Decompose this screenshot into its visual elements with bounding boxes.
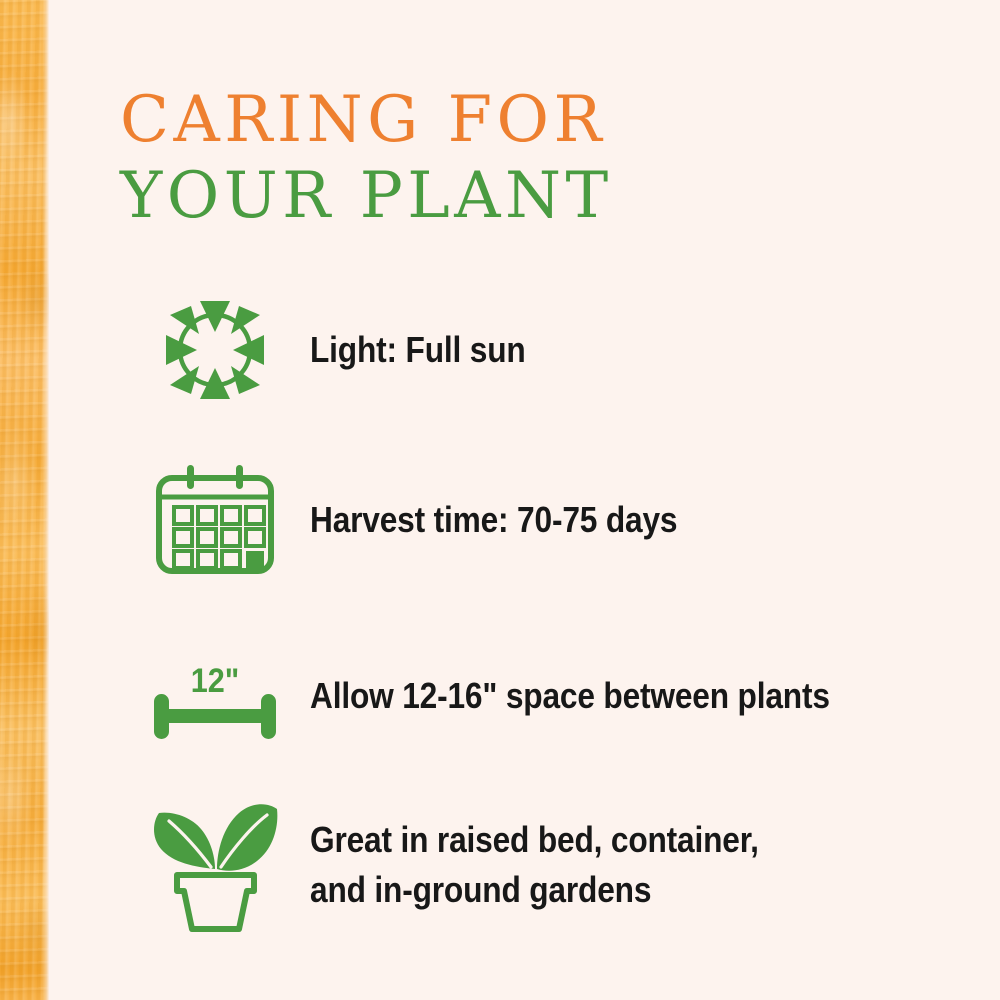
spacing-ruler-icon-cell: 12" <box>120 646 310 746</box>
care-row-harvest-label: Harvest time: 70-75 days <box>310 496 677 544</box>
sun-icon-cell <box>120 285 310 415</box>
spacing-ruler-label: 12" <box>191 662 240 700</box>
page-title-line-2: YOUR PLANT <box>120 158 860 234</box>
calendar-icon-cell <box>120 463 310 578</box>
care-row-spacing-label: Allow 12-16" space between plants <box>310 672 830 720</box>
page-title-line-1: CARING FOR <box>120 82 860 158</box>
care-row-harvest: Harvest time: 70-75 days <box>120 460 970 580</box>
care-info-card: CARING FOR YOUR PLANT <box>0 0 1000 1000</box>
page-title: CARING FOR YOUR PLANT <box>120 82 860 234</box>
care-row-light: Light: Full sun <box>120 290 970 410</box>
left-orange-stripe <box>0 0 49 1000</box>
care-row-container-label: Great in raised bed, container, and in-g… <box>310 815 759 915</box>
care-row-spacing: 12" Allow 12-16" space between plants <box>120 636 970 756</box>
plant-pot <box>177 875 254 929</box>
calendar-highlighted-day <box>246 551 264 568</box>
potted-plant-icon <box>143 795 288 935</box>
sun-icon <box>150 285 280 415</box>
care-row-container: Great in raised bed, container, and in-g… <box>120 790 970 940</box>
calendar-icon <box>150 463 280 578</box>
potted-plant-icon-cell <box>120 795 310 935</box>
spacing-ruler-icon: 12" <box>145 646 285 746</box>
care-row-light-label: Light: Full sun <box>310 326 526 374</box>
